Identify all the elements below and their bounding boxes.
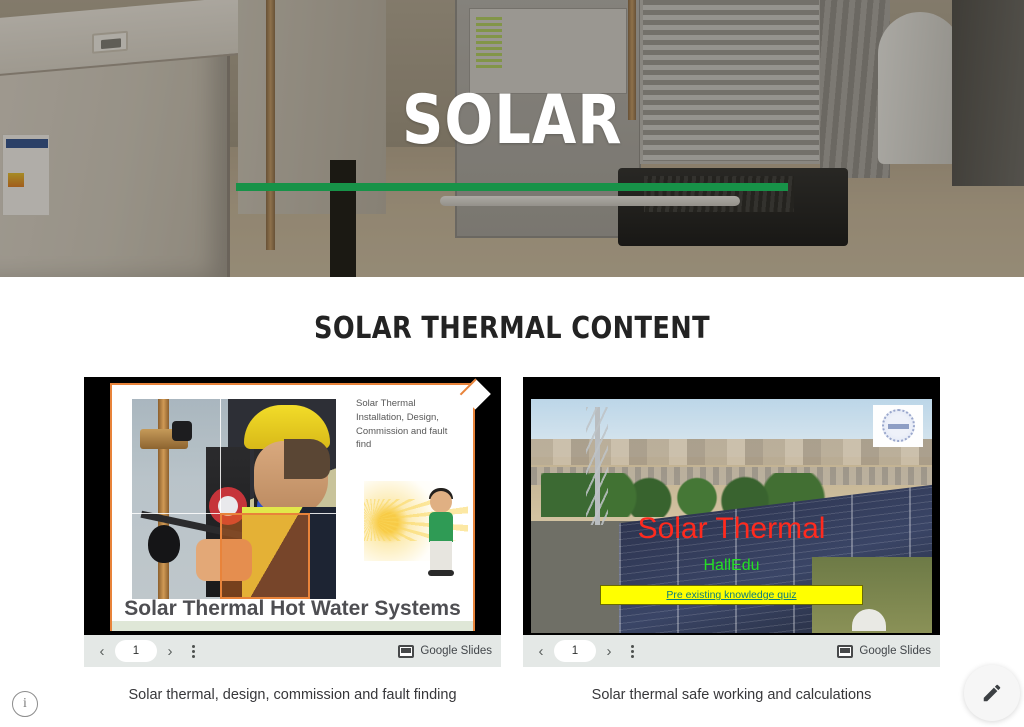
slide-2-logo-box <box>873 405 923 447</box>
slide-1-frame: Solar Thermal Installation, Design, Comm… <box>110 383 475 631</box>
slide-viewport-1[interactable]: Solar Thermal Installation, Design, Comm… <box>84 377 501 635</box>
slide-page-indicator-2[interactable]: 1 <box>554 640 596 662</box>
sun-graphic-icon <box>364 481 474 561</box>
page-title: SOLAR THERMAL CONTENT <box>26 277 999 346</box>
avatar-body <box>429 512 453 542</box>
edit-page-button[interactable] <box>964 665 1020 721</box>
technician-hair <box>284 439 330 479</box>
google-slides-embed-1[interactable]: Solar Thermal Installation, Design, Comm… <box>84 377 501 667</box>
avatar-shoes <box>428 570 454 576</box>
slide-card-2: Solar Thermal HallEdu Pre existing knowl… <box>523 377 940 703</box>
card-grid: Solar Thermal Installation, Design, Comm… <box>0 346 1024 703</box>
info-button[interactable]: i <box>12 691 38 717</box>
more-options-icon-1[interactable] <box>182 639 204 663</box>
highlight-box <box>220 513 310 599</box>
slide-card-1: Solar Thermal Installation, Design, Comm… <box>84 377 501 703</box>
hero-accent-rule <box>236 183 788 191</box>
next-slide-button-1[interactable]: › <box>158 639 182 663</box>
slides-toolbar-2: ‹ 1 › Google Slides <box>523 635 940 667</box>
institution-seal-icon <box>882 409 915 442</box>
slide-2-frame: Solar Thermal HallEdu Pre existing knowl… <box>531 399 932 633</box>
prev-slide-button-2[interactable]: ‹ <box>529 639 553 663</box>
next-slide-button-2[interactable]: › <box>597 639 621 663</box>
slide-2-title: Solar Thermal <box>531 514 932 544</box>
slide-viewport-2[interactable]: Solar Thermal HallEdu Pre existing knowl… <box>523 377 940 635</box>
hero-title: SOLAR <box>402 87 622 155</box>
slide-2-quiz-box[interactable]: Pre existing knowledge quiz <box>600 585 863 605</box>
pencil-icon <box>981 682 1003 704</box>
prev-slide-button-1[interactable]: ‹ <box>90 639 114 663</box>
google-slides-brand-2[interactable]: Google Slides <box>837 645 931 658</box>
slide-1-corner-fold <box>460 378 491 409</box>
avatar-legs <box>430 541 452 571</box>
slide-2-subtitle: HallEdu <box>531 557 932 575</box>
quiz-link[interactable]: Pre existing knowledge quiz <box>666 589 796 601</box>
slide-1-footer-band <box>112 621 473 631</box>
avatar-head <box>430 491 452 513</box>
presentation-icon-1 <box>398 645 414 658</box>
main-content: SOLAR THERMAL CONTENT <box>0 277 1024 703</box>
google-slides-brand-1[interactable]: Google Slides <box>398 645 492 658</box>
slide-1-body-text: Solar Thermal Installation, Design, Comm… <box>356 397 464 452</box>
hero-banner: SOLAR <box>0 0 1024 277</box>
slide-1-photo <box>132 399 336 599</box>
slide-1-footer-title: Solar Thermal Hot Water Systems <box>112 597 473 621</box>
valve-fitting <box>140 429 188 449</box>
presentation-icon-2 <box>837 645 853 658</box>
slide-2-lattice-mast <box>595 407 600 525</box>
expansion-vessel <box>148 525 180 563</box>
slides-toolbar-1: ‹ 1 › Google Slides <box>84 635 501 667</box>
google-slides-label-2: Google Slides <box>859 645 931 657</box>
google-slides-embed-2[interactable]: Solar Thermal HallEdu Pre existing knowl… <box>523 377 940 667</box>
google-slides-label-1: Google Slides <box>420 645 492 657</box>
slide-page-indicator-1[interactable]: 1 <box>115 640 157 662</box>
slide-card-2-caption: Solar thermal safe working and calculati… <box>523 667 940 703</box>
more-options-icon-2[interactable] <box>621 639 643 663</box>
slide-card-1-caption: Solar thermal, design, commission and fa… <box>84 667 501 703</box>
